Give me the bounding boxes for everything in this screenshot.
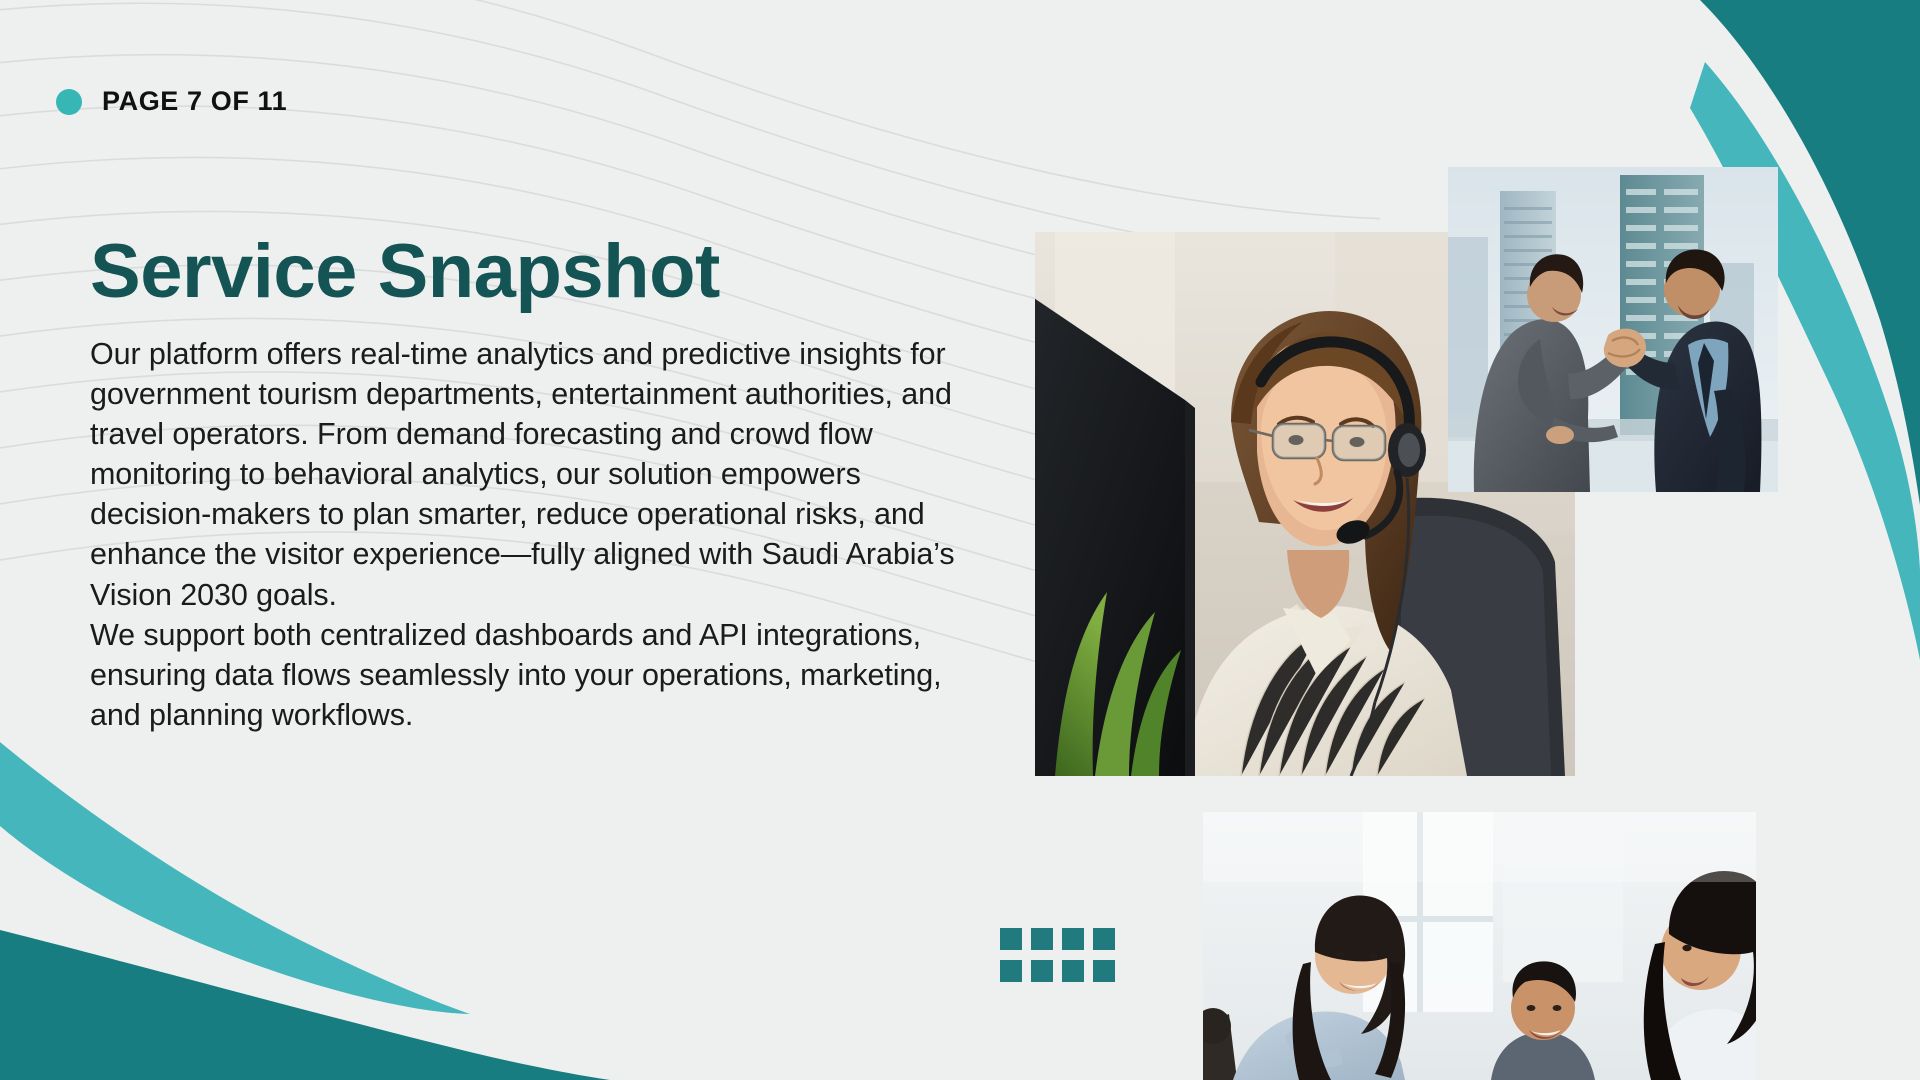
body-paragraph-2: We support both centralized dashboards a…: [90, 615, 980, 735]
dot-grid-cell: [1031, 928, 1053, 950]
dot-grid-cell: [1093, 928, 1115, 950]
dot-grid-cell: [1000, 928, 1022, 950]
dot-grid-cell: [1062, 960, 1084, 982]
page-marker: PAGE 7 OF 11: [56, 86, 287, 117]
bullet-dot-icon: [56, 89, 82, 115]
dot-grid-cell: [1031, 960, 1053, 982]
business-handshake-photo: [1448, 167, 1778, 492]
dot-grid-cell: [1093, 960, 1115, 982]
dot-grid-cell: [1000, 960, 1022, 982]
page-title: Service Snapshot: [90, 234, 980, 310]
dot-grid-cell: [1062, 928, 1084, 950]
team-meeting-photo: [1203, 812, 1756, 1080]
dot-grid-decoration: [1000, 928, 1115, 982]
slide: PAGE 7 OF 11 Service Snapshot Our platfo…: [0, 0, 1920, 1080]
text-column: Service Snapshot Our platform offers rea…: [90, 234, 980, 735]
body-paragraph-1: Our platform offers real-time analytics …: [90, 334, 980, 615]
page-number-label: PAGE 7 OF 11: [102, 86, 287, 117]
